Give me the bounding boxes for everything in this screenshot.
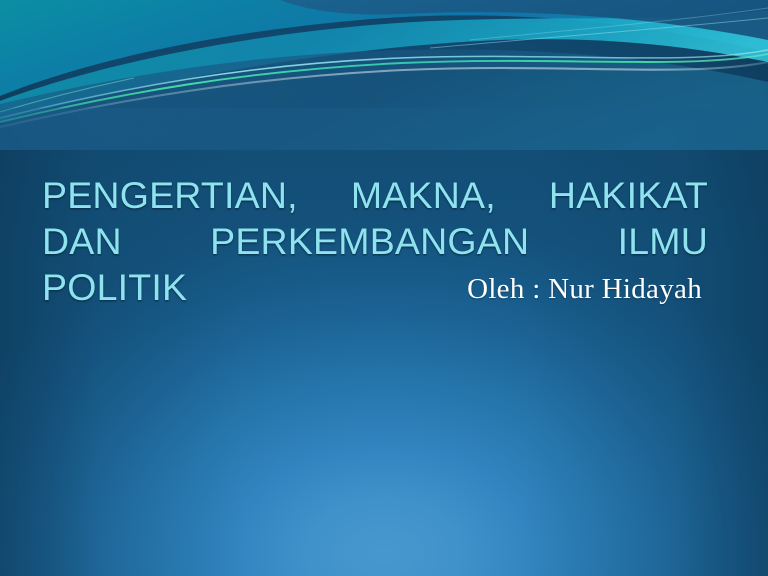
presentation-slide: PENGERTIAN, MAKNA, HAKIKAT DAN PERKEMBAN… [0,0,768,576]
slide-subtitle: Oleh : Nur Hidayah [42,272,702,306]
header-wave-decoration [0,0,768,150]
slide-title: PENGERTIAN, MAKNA, HAKIKAT DAN PERKEMBAN… [42,172,708,356]
subtitle-placeholder[interactable]: Oleh : Nur Hidayah [42,272,702,306]
title-placeholder[interactable]: PENGERTIAN, MAKNA, HAKIKAT DAN PERKEMBAN… [42,172,708,356]
